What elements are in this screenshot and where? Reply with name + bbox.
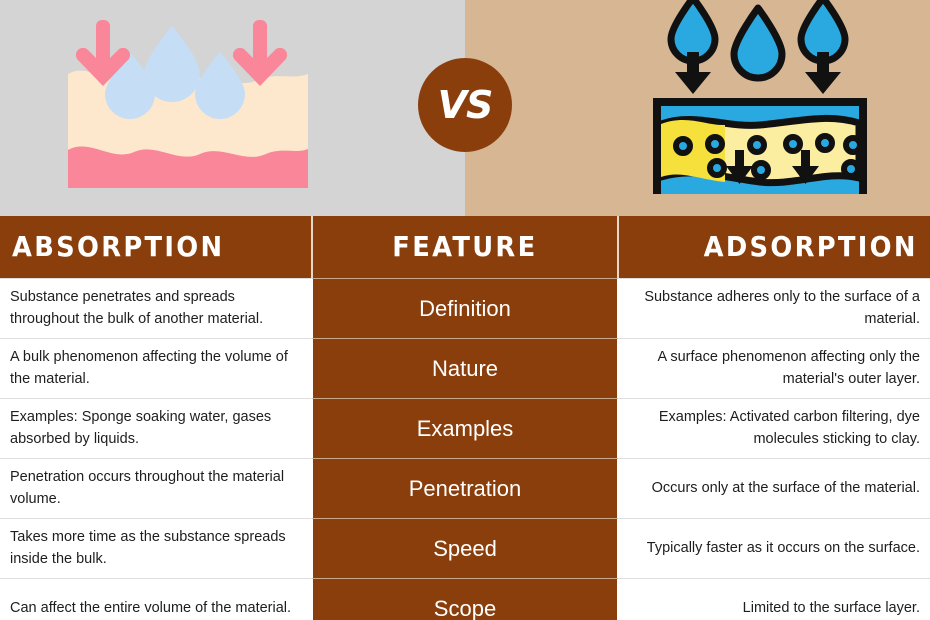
adsorption-text: Typically faster as it occurs on the sur… bbox=[629, 538, 920, 559]
absorption-text: Penetration occurs throughout the materi… bbox=[10, 467, 301, 509]
feature-cell: Penetration bbox=[311, 458, 619, 518]
header-label-feature: FEATURE bbox=[392, 233, 537, 261]
absorption-cell: Can affect the entire volume of the mate… bbox=[0, 578, 311, 620]
adsorption-text: Limited to the surface layer. bbox=[629, 598, 920, 619]
absorption-illustration bbox=[60, 2, 320, 202]
absorption-text: Substance penetrates and spreads through… bbox=[10, 287, 301, 329]
comparison-table: ABSORPTION FEATURE ADSORPTION Substance … bbox=[0, 216, 930, 620]
table-row: Substance penetrates and spreads through… bbox=[0, 278, 930, 338]
table-row: Can affect the entire volume of the mate… bbox=[0, 578, 930, 620]
absorption-text: Examples: Sponge soaking water, gases ab… bbox=[10, 407, 301, 449]
adsorption-cell: A surface phenomenon affecting only the … bbox=[619, 338, 930, 398]
feature-label: Definition bbox=[419, 298, 511, 320]
adsorption-text: Substance adheres only to the surface of… bbox=[629, 287, 920, 329]
adsorption-text: Occurs only at the surface of the materi… bbox=[629, 478, 920, 499]
feature-label: Speed bbox=[433, 538, 497, 560]
absorption-text: Can affect the entire volume of the mate… bbox=[10, 598, 291, 619]
adsorption-text: Examples: Activated carbon filtering, dy… bbox=[629, 407, 920, 449]
absorption-text: A bulk phenomenon affecting the volume o… bbox=[10, 347, 301, 389]
table-header-row: ABSORPTION FEATURE ADSORPTION bbox=[0, 216, 930, 278]
adsorption-cell: Occurs only at the surface of the materi… bbox=[619, 458, 930, 518]
feature-cell: Speed bbox=[311, 518, 619, 578]
table-row: Examples: Sponge soaking water, gases ab… bbox=[0, 398, 930, 458]
absorption-text: Takes more time as the substance spreads… bbox=[10, 527, 301, 569]
header-cell-absorption: ABSORPTION bbox=[0, 216, 311, 278]
table-row: A bulk phenomenon affecting the volume o… bbox=[0, 338, 930, 398]
versus-badge: VS bbox=[418, 58, 512, 152]
table-row: Penetration occurs throughout the materi… bbox=[0, 458, 930, 518]
adsorption-text: A surface phenomenon affecting only the … bbox=[629, 347, 920, 389]
adsorption-cell: Limited to the surface layer. bbox=[619, 578, 930, 620]
header-cell-feature: FEATURE bbox=[311, 216, 619, 278]
hero-illustration-band: VS bbox=[0, 0, 930, 216]
adsorption-cell: Typically faster as it occurs on the sur… bbox=[619, 518, 930, 578]
feature-label: Penetration bbox=[409, 478, 522, 500]
feature-cell: Definition bbox=[311, 278, 619, 338]
adsorption-illustration bbox=[645, 0, 875, 194]
feature-label: Scope bbox=[434, 598, 496, 620]
versus-label: VS bbox=[438, 86, 493, 124]
feature-cell: Nature bbox=[311, 338, 619, 398]
header-label-absorption: ABSORPTION bbox=[12, 233, 224, 261]
absorption-cell: Examples: Sponge soaking water, gases ab… bbox=[0, 398, 311, 458]
comparison-infographic: VS bbox=[0, 0, 930, 620]
table-row: Takes more time as the substance spreads… bbox=[0, 518, 930, 578]
feature-label: Examples bbox=[417, 418, 514, 440]
absorption-cell: Penetration occurs throughout the materi… bbox=[0, 458, 311, 518]
feature-cell: Scope bbox=[311, 578, 619, 620]
absorption-cell: A bulk phenomenon affecting the volume o… bbox=[0, 338, 311, 398]
feature-cell: Examples bbox=[311, 398, 619, 458]
feature-label: Nature bbox=[432, 358, 498, 380]
absorption-cell: Takes more time as the substance spreads… bbox=[0, 518, 311, 578]
absorption-cell: Substance penetrates and spreads through… bbox=[0, 278, 311, 338]
adsorption-cell: Examples: Activated carbon filtering, dy… bbox=[619, 398, 930, 458]
adsorption-cell: Substance adheres only to the surface of… bbox=[619, 278, 930, 338]
header-label-adsorption: ADSORPTION bbox=[704, 233, 918, 261]
header-cell-adsorption: ADSORPTION bbox=[619, 216, 930, 278]
